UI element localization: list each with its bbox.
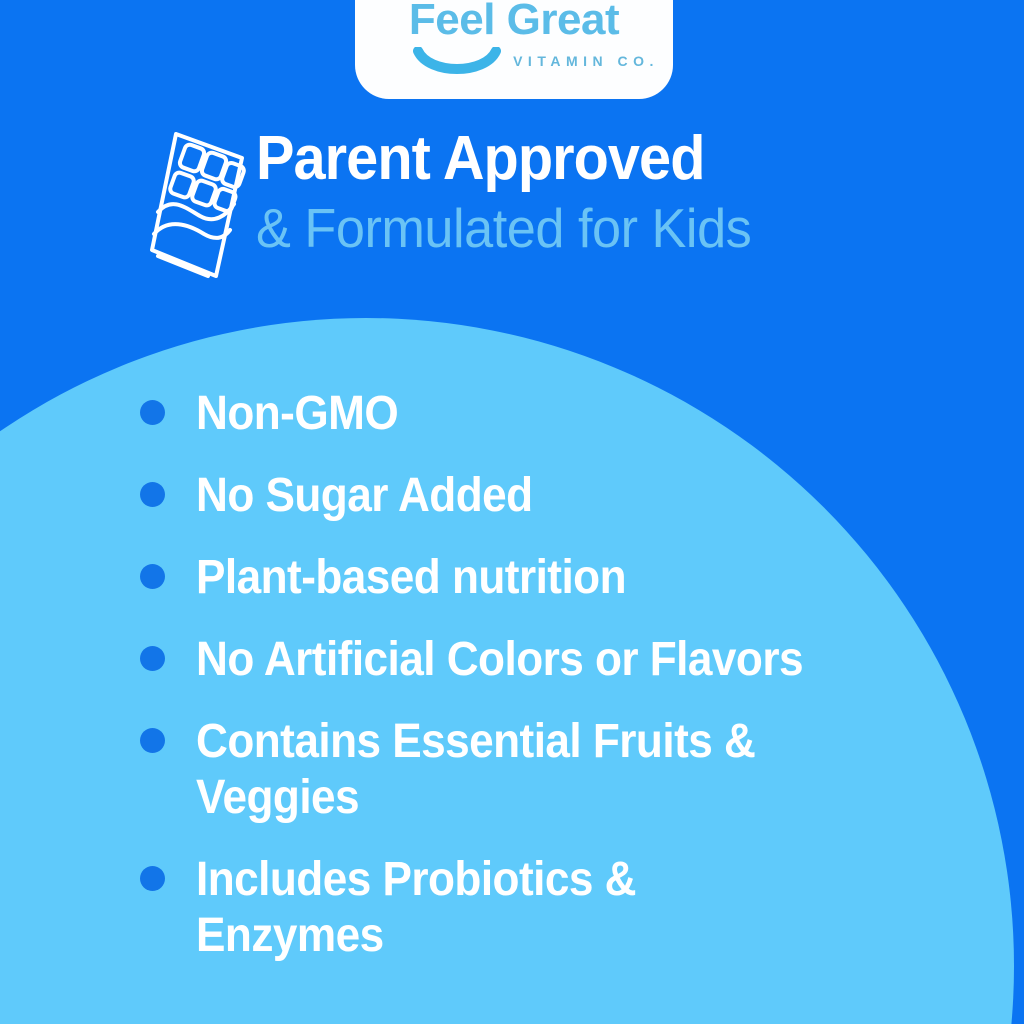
bullet-label: No Sugar Added (196, 468, 908, 524)
list-item: Non-GMO (140, 386, 970, 442)
bullet-dot-icon (140, 482, 165, 507)
headline-secondary: & Formulated for Kids (256, 198, 921, 258)
bullet-dot-icon (140, 728, 165, 753)
chocolate-bar-icon (138, 124, 258, 286)
list-item: No Artificial Colors or Flavors (140, 632, 970, 688)
list-item: Includes Probiotics & Enzymes (140, 852, 970, 964)
brand-wordmark: Feel Great (355, 0, 673, 46)
headline-block: Parent Approved & Formulated for Kids (256, 126, 956, 258)
brand-logo-inner: Feel Great VITAMIN CO. (355, 0, 673, 99)
brand-subtitle: VITAMIN CO. (500, 52, 672, 70)
brand-logo-card: Feel Great VITAMIN CO. (355, 0, 673, 99)
smile-swoosh-icon (413, 47, 501, 81)
bullet-dot-icon (140, 400, 165, 425)
bullet-dot-icon (140, 866, 165, 891)
bullet-label: No Artificial Colors or Flavors (196, 632, 908, 688)
list-item: No Sugar Added (140, 468, 970, 524)
promo-graphic: Feel Great VITAMIN CO. (0, 0, 1024, 1024)
bullet-label: Plant-based nutrition (196, 550, 908, 606)
feature-bullet-list: Non-GMO No Sugar Added Plant-based nutri… (140, 386, 970, 990)
bullet-dot-icon (140, 646, 165, 671)
headline-primary: Parent Approved (256, 126, 907, 192)
list-item: Plant-based nutrition (140, 550, 970, 606)
bullet-label: Contains Essential Fruits & Veggies (196, 714, 785, 826)
bullet-label: Includes Probiotics & Enzymes (196, 852, 725, 964)
bullet-label: Non-GMO (196, 386, 908, 442)
list-item: Contains Essential Fruits & Veggies (140, 714, 970, 826)
bullet-dot-icon (140, 564, 165, 589)
